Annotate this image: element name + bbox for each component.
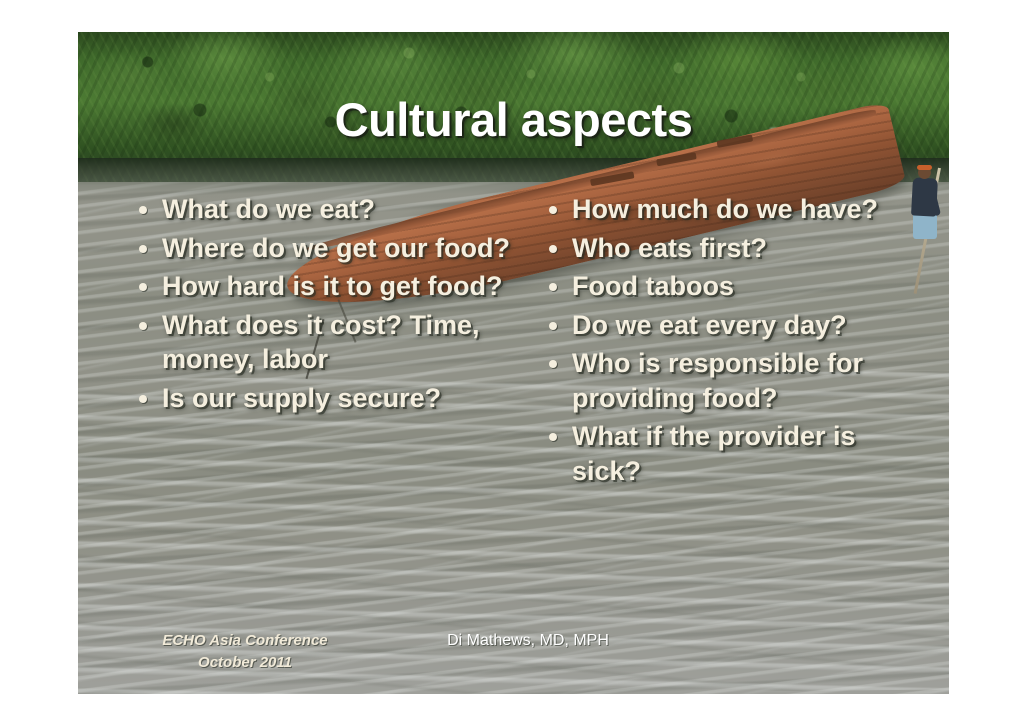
slide-title: Cultural aspects	[78, 92, 949, 147]
person-headband	[917, 165, 932, 170]
list-item: How hard is it to get food?	[130, 269, 530, 304]
footer-conference-name: ECHO Asia Conference	[130, 630, 360, 652]
list-item: What do we eat?	[130, 192, 530, 227]
bullet-column-left: What do we eat? Where do we get our food…	[130, 192, 530, 419]
list-item: Where do we get our food?	[130, 231, 530, 266]
list-item: Is our supply secure?	[130, 381, 530, 416]
list-item: How much do we have?	[540, 192, 912, 227]
list-item: Food taboos	[540, 269, 912, 304]
list-item: Who is responsible for providing food?	[540, 346, 912, 415]
bullet-list-right: How much do we have? Who eats first? Foo…	[540, 192, 912, 488]
footer-conference-date: October 2011	[130, 652, 360, 674]
footer-conference: ECHO Asia Conference October 2011	[130, 630, 360, 674]
list-item: What does it cost? Time, money, labor	[130, 308, 530, 377]
footer-presenter: Di Mathews, MD, MPH	[378, 632, 678, 650]
presentation-slide: Cultural aspects What do we eat? Where d…	[78, 32, 949, 694]
bullet-list-left: What do we eat? Where do we get our food…	[130, 192, 530, 415]
list-item: Do we eat every day?	[540, 308, 912, 343]
list-item: Who eats first?	[540, 231, 912, 266]
slide-body: What do we eat? Where do we get our food…	[78, 192, 949, 492]
bullet-column-right: How much do we have? Who eats first? Foo…	[540, 192, 912, 492]
list-item: What if the provider is sick?	[540, 419, 912, 488]
